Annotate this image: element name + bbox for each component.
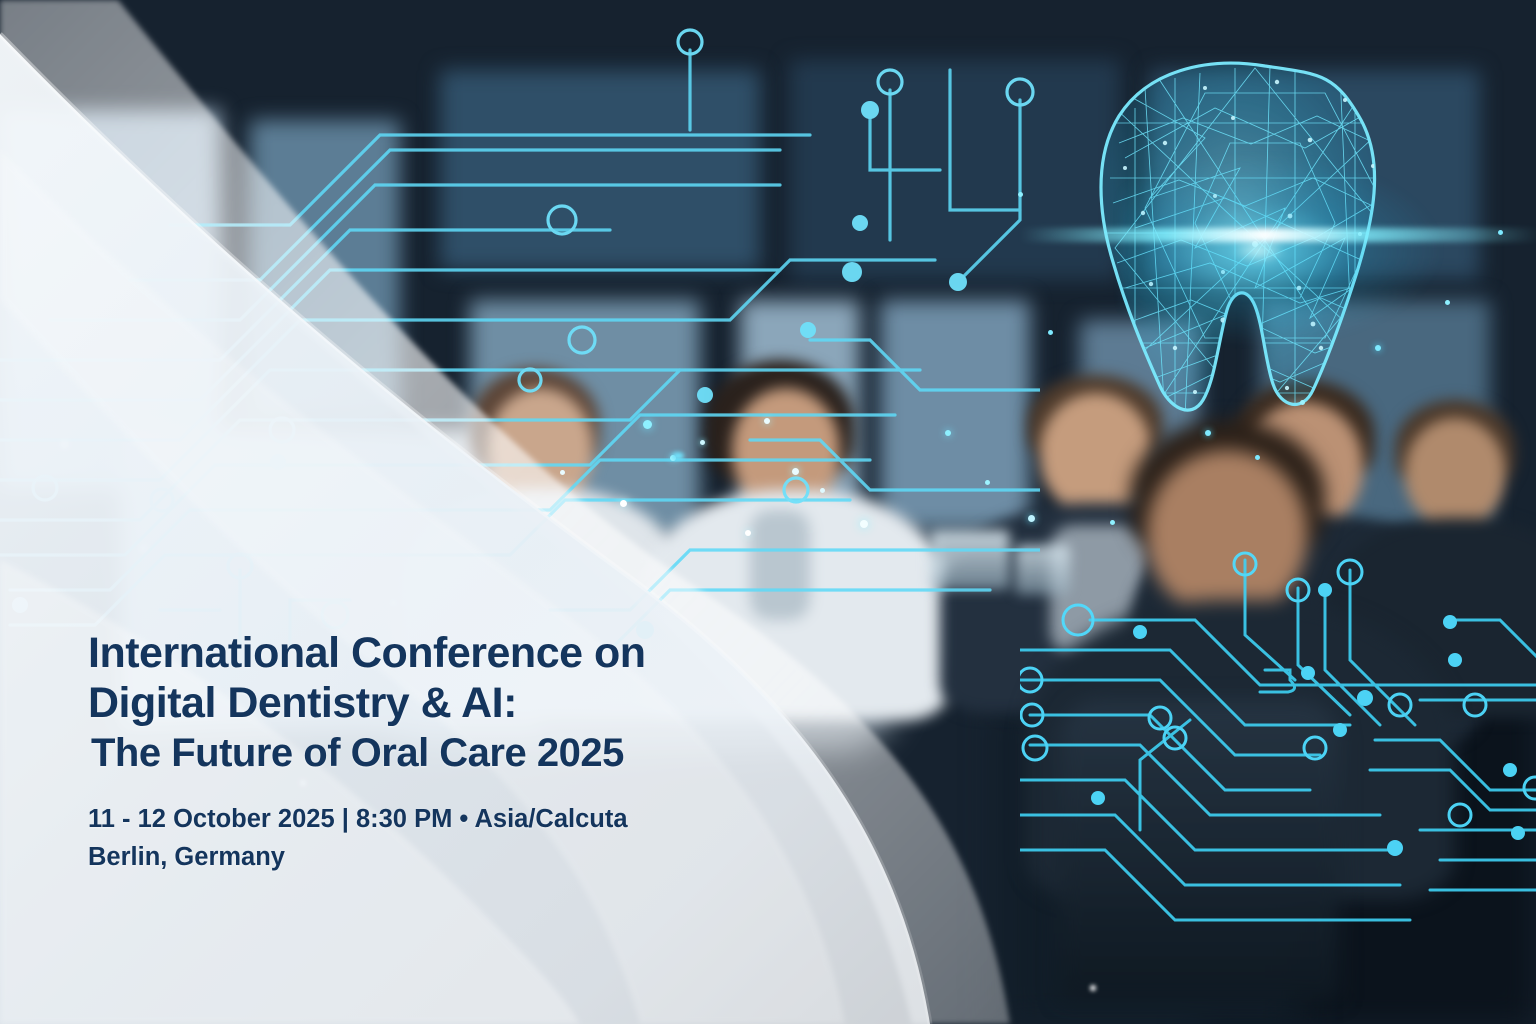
text-block: International Conference on Digital Dent… bbox=[88, 628, 908, 876]
event-meta: 11 - 12 October 2025 | 8:30 PM • Asia/Ca… bbox=[88, 800, 908, 876]
title-line-2: Digital Dentistry & AI: bbox=[88, 678, 908, 728]
page-title: International Conference on Digital Dent… bbox=[88, 628, 908, 778]
event-location: Berlin, Germany bbox=[88, 838, 908, 876]
title-line-3: The Future of Oral Care 2025 bbox=[88, 728, 908, 778]
title-line-1: International Conference on bbox=[88, 628, 908, 678]
event-datetime: 11 - 12 October 2025 | 8:30 PM • Asia/Ca… bbox=[88, 800, 908, 838]
conference-banner: International Conference on Digital Dent… bbox=[0, 0, 1536, 1024]
